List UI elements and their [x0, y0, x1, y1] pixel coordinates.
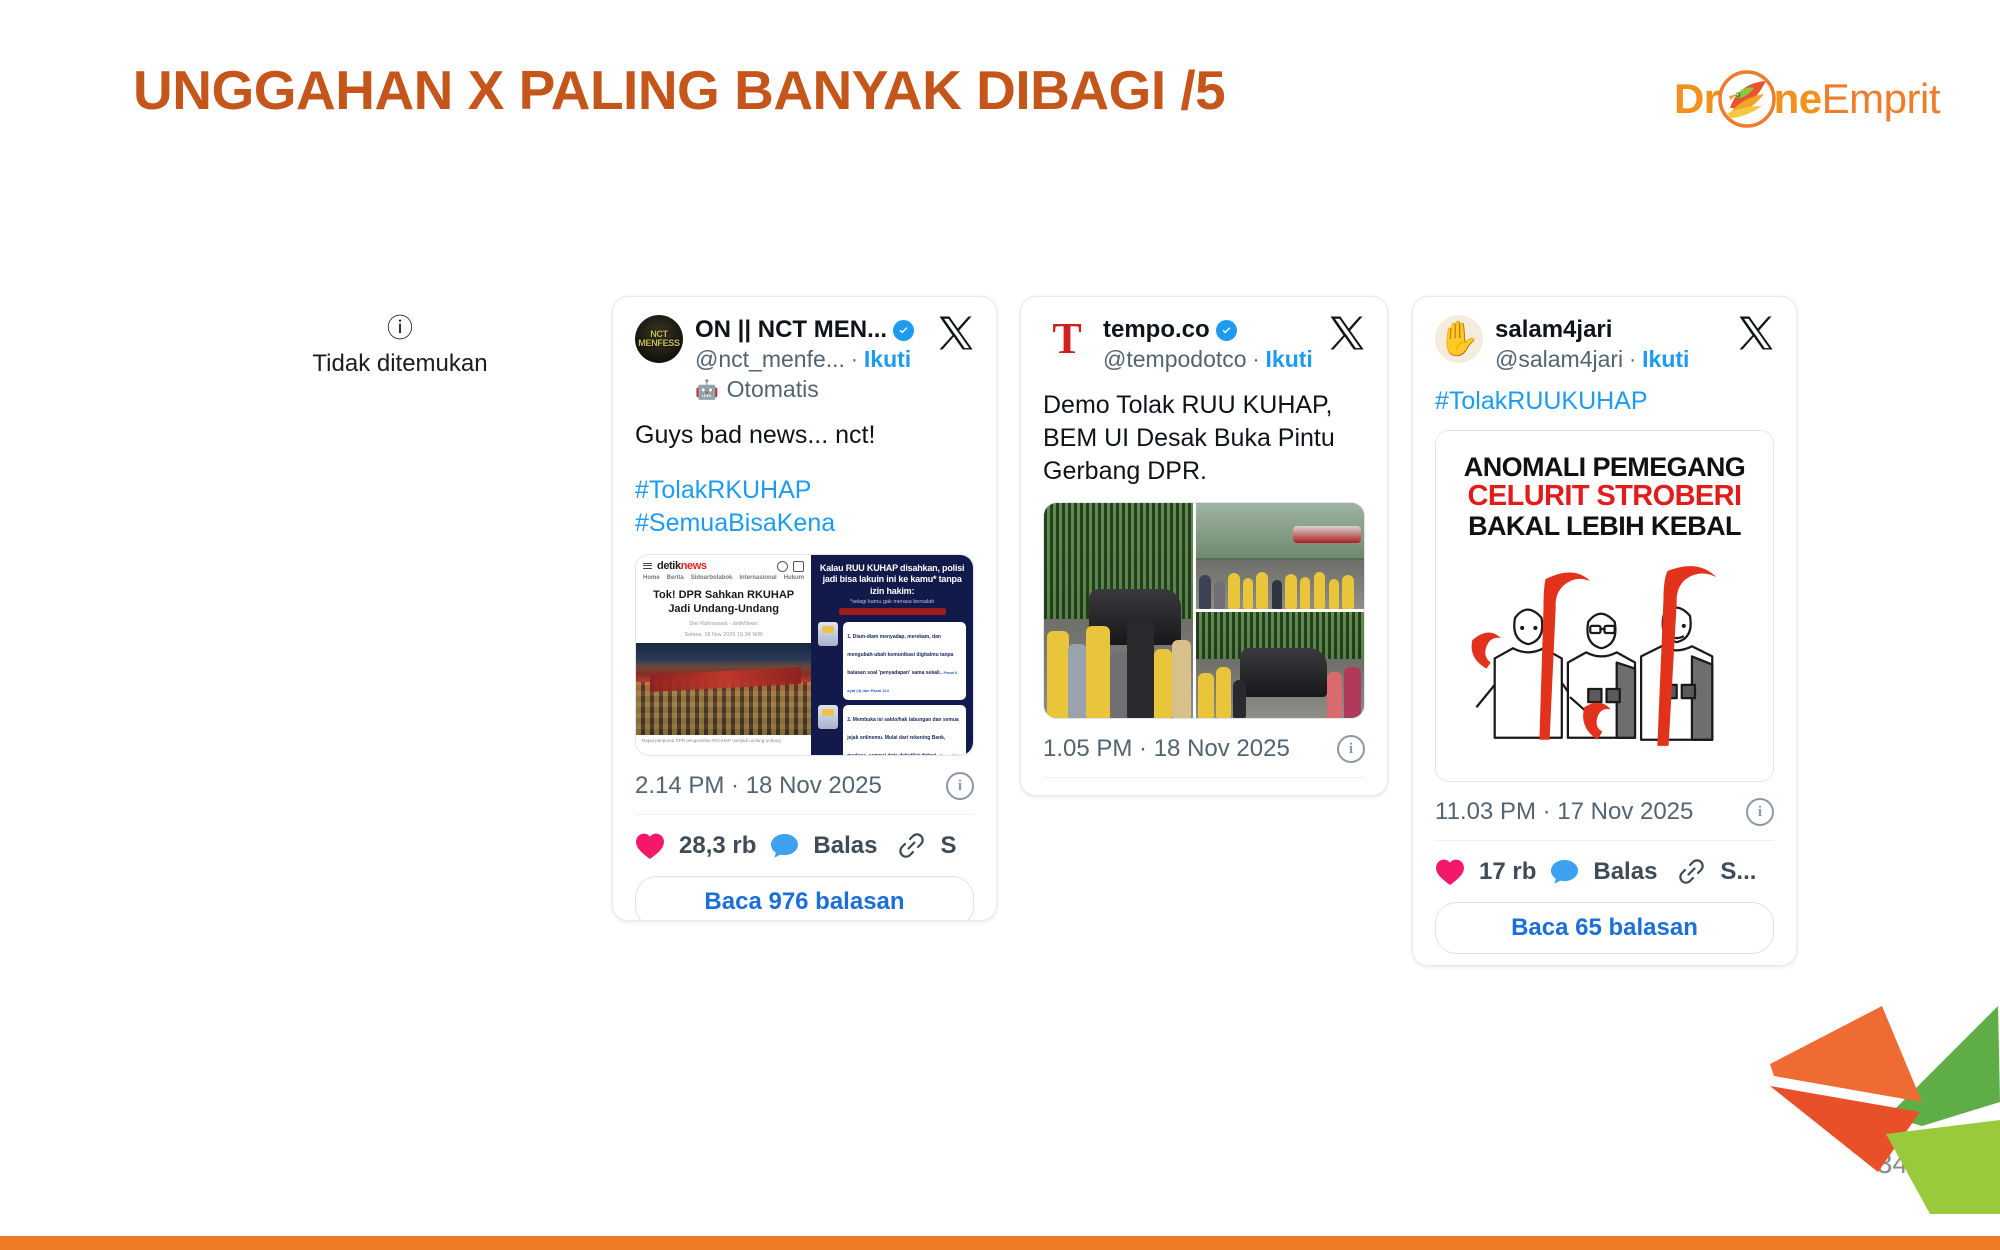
poster-line-2: CELURIT STROBERI — [1452, 481, 1757, 511]
tweet-actions: 28,3 rb Balas S — [635, 831, 974, 860]
x-logo-icon[interactable] — [1329, 315, 1365, 351]
not-found-label: Tidak ditemukan — [312, 350, 487, 377]
logo-text-ne: ne — [1774, 78, 1822, 120]
tweet-timestamp: 2.14 PM · 18 Nov 2025 — [635, 772, 882, 800]
kuhap-infographic: Kalau RUU KUHAP disahkan, polisi jadi bi… — [811, 555, 973, 755]
verified-badge-icon — [1216, 320, 1237, 341]
menu-icon — [793, 561, 804, 572]
x-logo-icon[interactable] — [938, 315, 974, 351]
tweet-hashtags: #TolakRKUHAP #SemuaBisaKena — [635, 474, 974, 540]
demo-photo — [1044, 503, 1193, 718]
hashtag[interactable]: #SemuaBisaKena — [635, 507, 974, 540]
link-icon[interactable] — [1305, 794, 1334, 796]
heart-icon[interactable] — [635, 832, 665, 860]
robot-icon: 🤖 — [695, 378, 719, 402]
separator-dot: · — [851, 348, 858, 372]
tweet-card-list: NCT MENFESS ON || NCT MEN... @nct_menfe.… — [612, 296, 1822, 996]
lock-icon — [818, 705, 838, 729]
heart-icon[interactable] — [1435, 858, 1465, 886]
drone-emprit-logo: Dr ne Emprit — [1674, 68, 1940, 130]
police-icon — [818, 622, 838, 646]
comment-bubble-icon[interactable] — [1550, 859, 1579, 885]
tweet-timestamp-row: 1.05 PM · 18 Nov 2025 i — [1043, 735, 1365, 763]
infographic-title: Kalau RUU KUHAP disahkan, polisi jadi bi… — [811, 555, 973, 599]
share-label[interactable]: S — [940, 832, 956, 860]
link-icon[interactable] — [1677, 857, 1706, 886]
exclamation-circle-icon: ⓘ — [310, 315, 490, 341]
tweet-media-image[interactable]: ANOMALI PEMEGANG CELURIT STROBERI BAKAL … — [1435, 430, 1774, 782]
demo-photo — [1196, 612, 1364, 718]
tweet-header: ✋ salam4jari @salam4jari · Ikuti — [1435, 315, 1774, 373]
separator-dot: · — [1629, 348, 1636, 372]
infographic-subtitle: *selagi kamu gak merasa bersalah — [811, 599, 973, 608]
info-icon[interactable]: i — [946, 772, 974, 800]
photo-caption: Rapat paripurna DPR pengesahan RKUHAP me… — [636, 735, 811, 748]
logo-text-emprit: Emprit — [1822, 78, 1940, 120]
reply-label[interactable]: Balas — [1593, 858, 1657, 886]
detik-logo: detiknews — [657, 560, 707, 572]
tweet-card[interactable]: T tempo.co @tempodotco · Ikuti Demo Tola… — [1020, 296, 1388, 796]
comment-bubble-icon[interactable] — [770, 833, 799, 859]
not-found-block: ⓘ Tidak ditemukan — [310, 315, 490, 378]
divider — [1435, 840, 1774, 841]
tweet-text: Guys bad news... nct! — [635, 419, 974, 452]
avatar[interactable]: T — [1043, 315, 1091, 363]
tweet-timestamp: 1.05 PM · 18 Nov 2025 — [1043, 735, 1290, 763]
news-byline: Dwi Rahmawati - detikNews — [636, 620, 811, 632]
tweet-header: T tempo.co @tempodotco · Ikuti — [1043, 315, 1365, 373]
detik-nav: Home Berita Sidoarbolabok Internasional … — [636, 575, 811, 585]
page-title: UNGGAHAN X PALING BANYAK DIBAGI /5 — [133, 58, 1225, 122]
four-fingers-hand-icon: ✋ — [1438, 322, 1480, 356]
separator-dot: · — [1253, 348, 1260, 372]
tweet-identity: salam4jari @salam4jari · Ikuti — [1495, 315, 1774, 373]
follow-button[interactable]: Ikuti — [1642, 346, 1689, 373]
avatar-label: T — [1052, 319, 1081, 359]
poster-line-1: ANOMALI PEMEGANG — [1452, 453, 1757, 481]
tweet-timestamp: 11.03 PM · 17 Nov 2025 — [1435, 798, 1693, 826]
like-count: 28,3 rb — [679, 832, 756, 860]
reply-label[interactable]: Balas — [1221, 795, 1285, 797]
bottom-accent-bar — [0, 1236, 2000, 1250]
account-name: salam4jari — [1495, 316, 1612, 344]
poster-line-3: BAKAL LEBIH KEBAL — [1452, 512, 1757, 540]
infographic-badge — [839, 608, 946, 615]
avatar[interactable]: NCT MENFESS — [635, 315, 683, 363]
follow-button[interactable]: Ikuti — [864, 346, 911, 373]
hashtag[interactable]: #TolakRKUHAP — [635, 474, 974, 507]
hashtag[interactable]: #TolakRUUKUHAP — [1435, 387, 1774, 416]
divider — [1043, 777, 1365, 778]
automated-label: Otomatis — [727, 376, 819, 403]
info-icon[interactable]: i — [1746, 798, 1774, 826]
read-replies-button[interactable]: Baca 65 balasan — [1435, 902, 1774, 954]
reply-label[interactable]: Balas — [813, 832, 877, 860]
hamburger-icon — [643, 563, 652, 570]
parliament-photo — [636, 643, 811, 735]
demo-photo — [1196, 503, 1364, 609]
infographic-item: 2. Membuka isi saldo/hak tabungan dan se… — [811, 703, 973, 755]
read-replies-button[interactable]: Baca 976 balasan — [635, 876, 974, 921]
account-handle: @nct_menfe... — [695, 346, 845, 373]
detik-news-screenshot: detiknews Home Berita Sidoarbolabok Inte… — [636, 555, 811, 755]
infographic-item: 1. Diam-diam menyadap, merekam, dan meng… — [811, 620, 973, 703]
like-count: 15,3 rb — [1087, 795, 1164, 797]
tweet-media-image[interactable] — [1043, 502, 1365, 719]
tweet-card[interactable]: ✋ salam4jari @salam4jari · Ikuti #TolakR… — [1412, 296, 1797, 966]
tweet-media-image[interactable]: detiknews Home Berita Sidoarbolabok Inte… — [635, 554, 974, 756]
tweet-text: Demo Tolak RUU KUHAP, BEM UI Desak Buka … — [1043, 389, 1365, 488]
item-ref: - Pasal 124 — [938, 753, 959, 755]
tweet-actions: 15,3 rb Balas S — [1043, 794, 1365, 796]
corner-decoration — [1770, 994, 2000, 1214]
search-icon — [777, 561, 788, 572]
logo-text-dr: Dr — [1674, 78, 1720, 120]
verified-badge-icon — [893, 320, 914, 341]
drone-bird-logo-icon — [1716, 68, 1778, 130]
tweet-timestamp-row: 2.14 PM · 18 Nov 2025 i — [635, 772, 974, 800]
avatar-label: NCT MENFESS — [635, 330, 683, 348]
account-handle: @tempodotco — [1103, 346, 1247, 373]
tweet-card[interactable]: NCT MENFESS ON || NCT MEN... @nct_menfe.… — [612, 296, 997, 921]
comment-bubble-icon[interactable] — [1178, 796, 1207, 797]
link-icon[interactable] — [897, 831, 926, 860]
account-name: ON || NCT MEN... — [695, 316, 887, 344]
celurit-figures-illustration — [1452, 554, 1757, 769]
news-headline: Tok! DPR Sahkan RKUHAP Jadi Undang-Undan… — [636, 585, 811, 620]
avatar[interactable]: ✋ — [1435, 315, 1483, 363]
divider — [635, 814, 974, 815]
tweet-identity: tempo.co @tempodotco · Ikuti — [1103, 315, 1365, 373]
tweet-header: NCT MENFESS ON || NCT MEN... @nct_menfe.… — [635, 315, 974, 403]
tweet-timestamp-row: 11.03 PM · 17 Nov 2025 i — [1435, 798, 1774, 826]
news-timestamp: Selasa, 18 Nov 2025 15:34 WIB — [636, 631, 811, 643]
item-text: 1. Diam-diam menyadap, merekam, dan meng… — [847, 634, 953, 676]
tweet-identity: ON || NCT MEN... @nct_menfe... · Ikuti 🤖… — [695, 315, 974, 403]
heart-icon[interactable] — [1043, 795, 1073, 797]
account-name: tempo.co — [1103, 316, 1210, 344]
poster-illustration: ANOMALI PEMEGANG CELURIT STROBERI BAKAL … — [1436, 431, 1773, 781]
like-count: 17 rb — [1479, 858, 1536, 886]
follow-button[interactable]: Ikuti — [1266, 346, 1313, 373]
item-text: 2. Membuka isi saldo/hak tabungan dan se… — [847, 717, 958, 755]
share-label[interactable]: S... — [1720, 858, 1756, 886]
share-label[interactable]: S — [1348, 795, 1364, 797]
tweet-actions: 17 rb Balas S... — [1435, 857, 1774, 886]
account-handle: @salam4jari — [1495, 346, 1623, 373]
x-logo-icon[interactable] — [1738, 315, 1774, 351]
info-icon[interactable]: i — [1337, 735, 1365, 763]
